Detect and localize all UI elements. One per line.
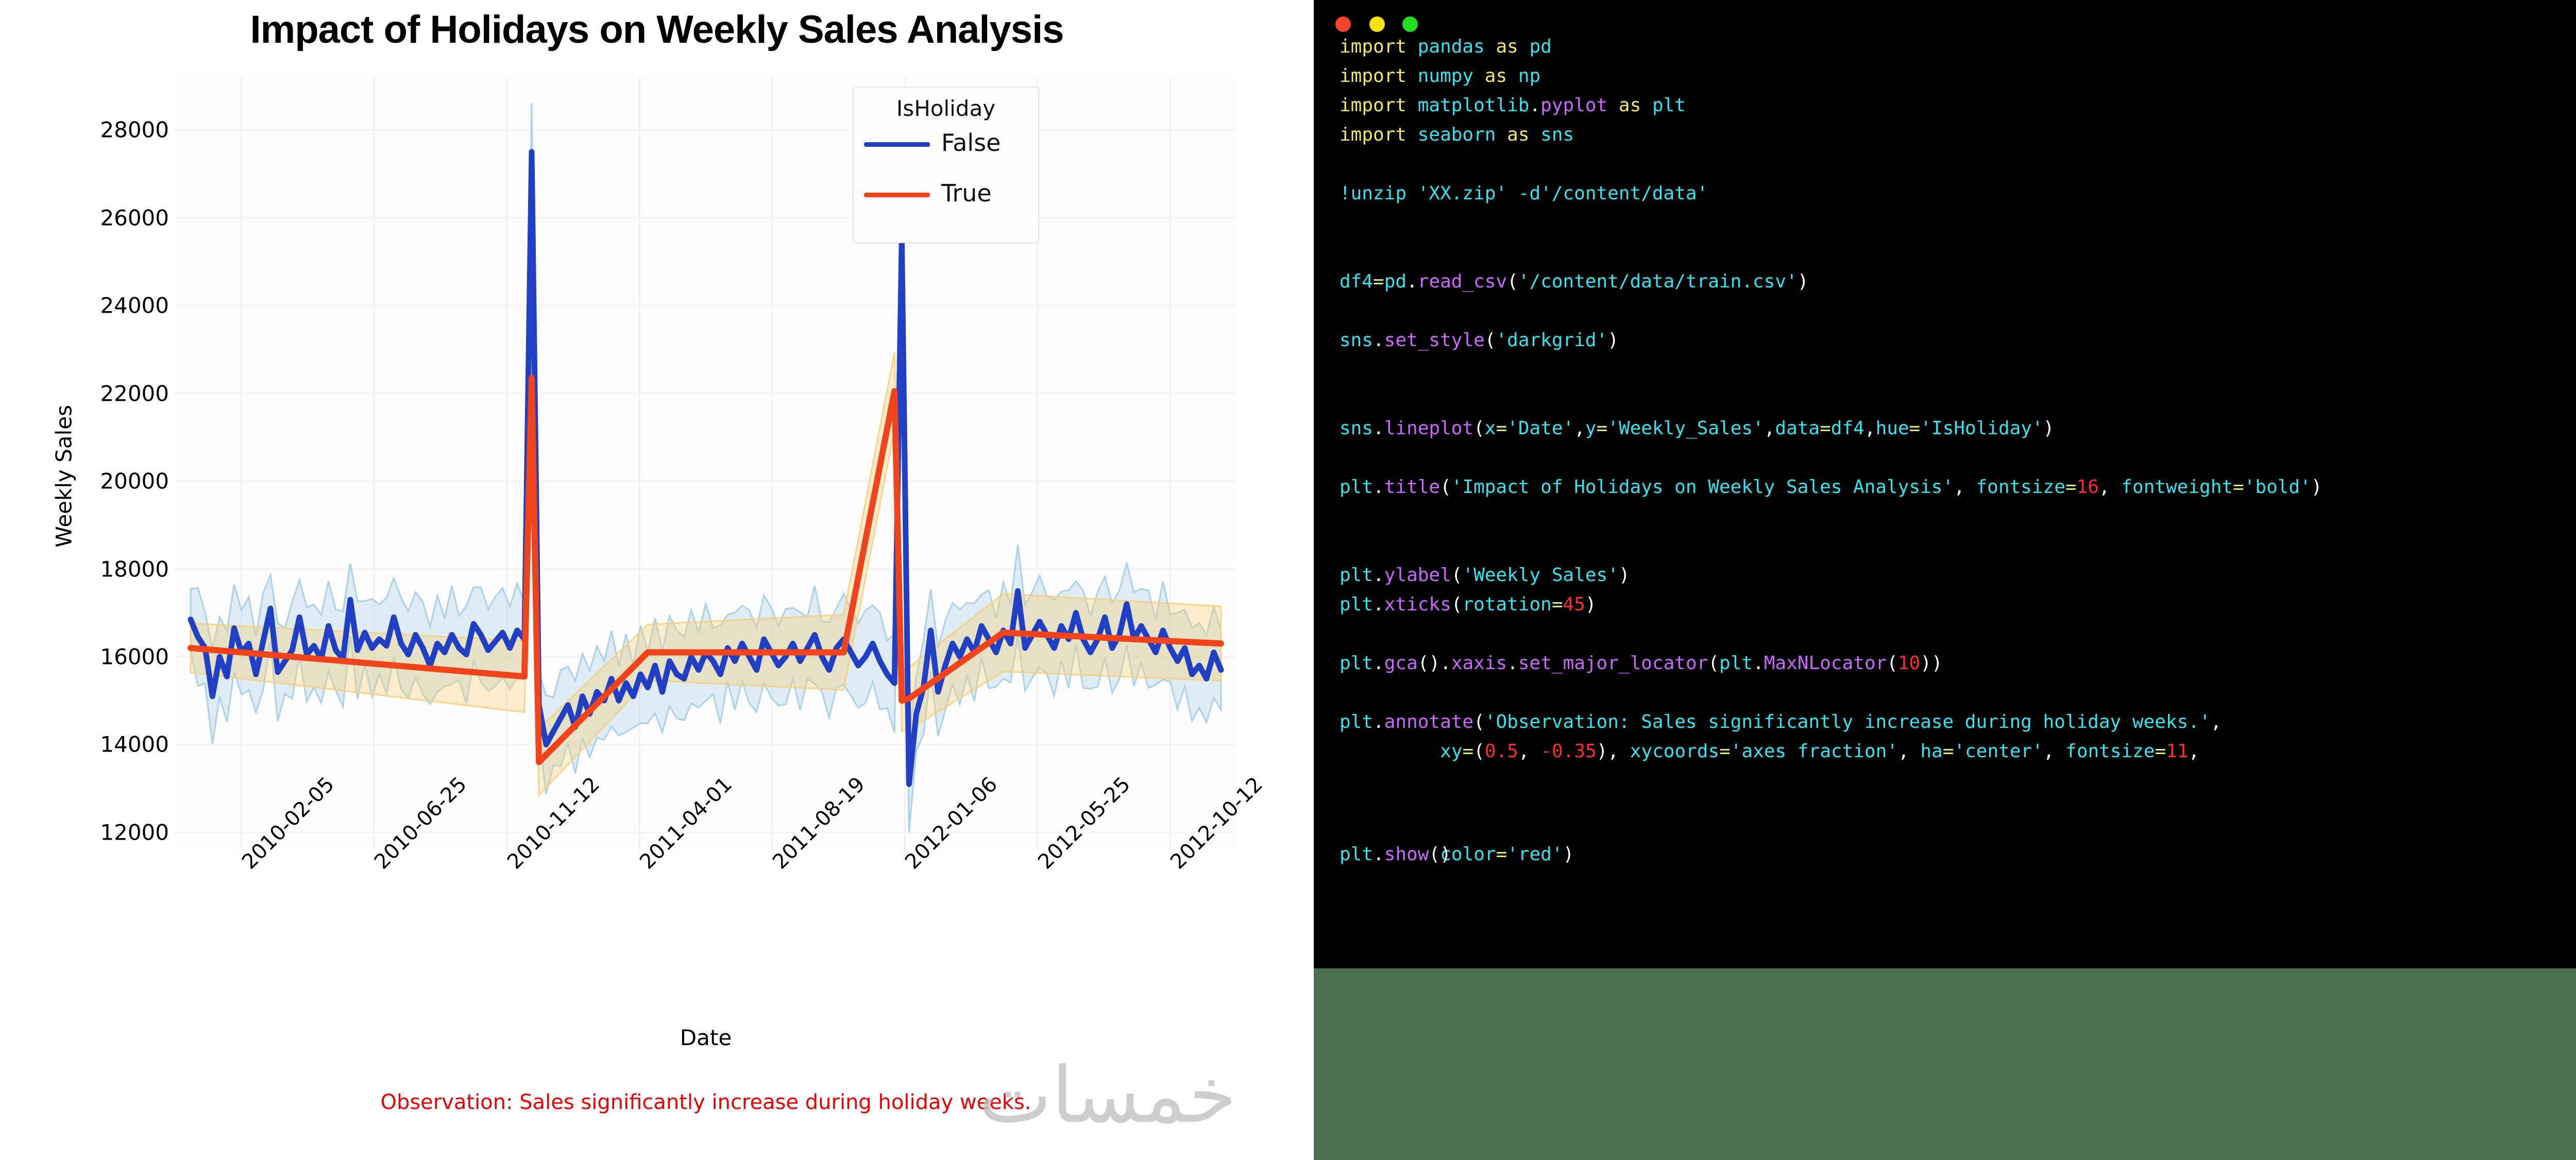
code-line: plt.ylabel('Weekly Sales') [1340, 560, 2576, 590]
page-title: Impact of Holidays on Weekly Sales Analy… [0, 7, 1314, 52]
y-tick-label: 24000 [0, 293, 169, 318]
chart-legend[interactable]: IsHoliday False True [853, 87, 1039, 243]
code-line: import seaborn as sns [1340, 120, 2576, 149]
minimize-icon[interactable] [1369, 16, 1385, 32]
code-line-overlap-1: plt.show() [1340, 840, 1451, 869]
code-line [1340, 296, 2576, 326]
code-line [1340, 149, 2576, 179]
x-axis-label: Date [175, 1025, 1236, 1050]
code-line [1340, 619, 2576, 649]
code-line [1340, 355, 2576, 384]
code-block[interactable]: import pandas as pdimport numpy as npimp… [1340, 32, 2576, 766]
y-tick-label: 18000 [0, 556, 169, 582]
code-line [1340, 678, 2576, 707]
code-line: plt.annotate('Observation: Sales signifi… [1340, 707, 2576, 737]
y-tick-label: 26000 [0, 205, 169, 230]
y-tick-label: 20000 [0, 469, 169, 494]
y-tick-label: 22000 [0, 381, 169, 406]
line-chart-canvas [175, 77, 1236, 850]
code-line: plt.xticks(rotation=45) [1340, 590, 2576, 619]
observation-annotation: Observation: Sales significantly increas… [175, 1090, 1236, 1114]
code-line: import pandas as pd [1340, 32, 2576, 61]
code-line: import matplotlib.pyplot as plt [1340, 91, 2576, 120]
code-line [1340, 443, 2576, 472]
y-tick-label: 14000 [0, 732, 169, 757]
legend-swatch-false [864, 142, 930, 147]
code-line: plt.gca().xaxis.set_major_locator(plt.Ma… [1340, 649, 2576, 678]
y-tick-label: 16000 [0, 644, 169, 670]
code-line: df4=pd.read_csv('/content/data/train.csv… [1340, 267, 2576, 296]
code-line: sns.lineplot(x='Date',y='Weekly_Sales',d… [1340, 414, 2576, 443]
code-line [1340, 531, 2576, 560]
green-background-panel [1314, 968, 2576, 1160]
code-line: plt.title('Impact of Holidays on Weekly … [1340, 472, 2576, 502]
legend-label-false: False [941, 129, 1001, 157]
code-editor-window: import pandas as pdimport numpy as npimp… [1314, 0, 2576, 968]
series-line-true [191, 378, 1221, 762]
legend-item-true[interactable]: True [864, 179, 1029, 210]
matplotlib-figure: Impact of Holidays on Weekly Sales Analy… [0, 0, 1314, 1160]
legend-item-false[interactable]: False [864, 129, 1029, 160]
code-overlapping-lines: color='red')plt.show() [1340, 840, 1803, 869]
confidence-band-false [191, 103, 1221, 833]
legend-swatch-true [864, 193, 930, 197]
code-line: !unzip 'XX.zip' -d'/content/data' [1340, 179, 2576, 208]
plot-area [175, 77, 1236, 850]
y-tick-label: 28000 [0, 117, 169, 143]
code-line [1340, 384, 2576, 414]
maximize-icon[interactable] [1402, 16, 1418, 32]
code-line: import numpy as np [1340, 61, 2576, 91]
screenshot-root: Impact of Holidays on Weekly Sales Analy… [0, 0, 2576, 1160]
confidence-band-true [191, 338, 1221, 795]
code-line: sns.set_style('darkgrid') [1340, 326, 2576, 355]
code-line [1340, 502, 2576, 531]
code-line [1340, 208, 2576, 237]
code-line: xy=(0.5, -0.35), xycoords='axes fraction… [1340, 737, 2576, 766]
legend-label-true: True [941, 179, 992, 207]
code-line [1340, 237, 2576, 267]
close-icon[interactable] [1335, 16, 1351, 32]
y-tick-label: 12000 [0, 820, 169, 845]
legend-title: IsHoliday [854, 96, 1038, 121]
